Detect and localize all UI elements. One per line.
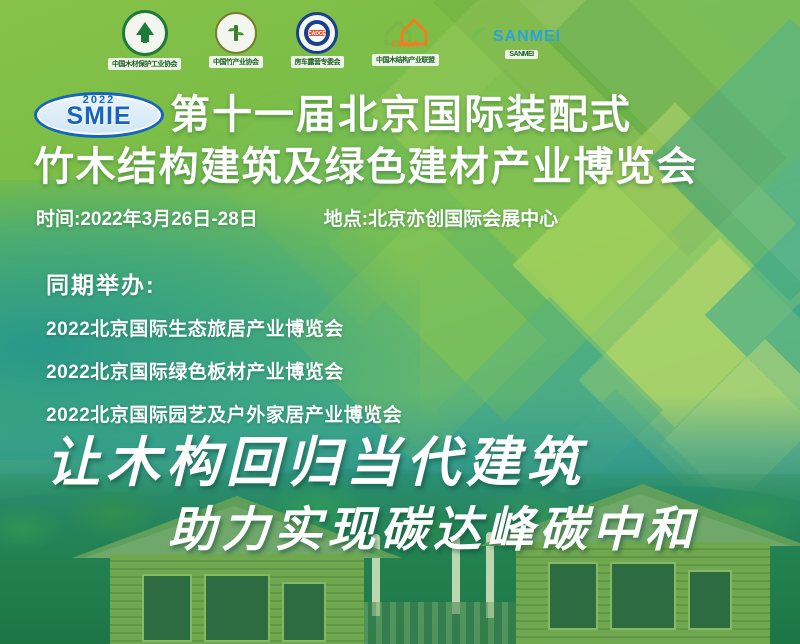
cadce-badge-icon: CADCE — [296, 12, 338, 54]
sponsor-logo: 中国木材保护工业协会 — [108, 10, 181, 70]
sponsor-logo: CWSA 中国木结构产业联盟 — [372, 14, 439, 66]
exhibition-poster: 中国木材保护工业协会 中国竹产业协会 — [0, 0, 800, 644]
house-cwsa-icon: CWSA — [380, 14, 430, 52]
svg-text:CADCE: CADCE — [308, 31, 326, 37]
event-date: 时间:2022年3月26日-28日 — [36, 204, 258, 231]
sponsor-logo-strip: 中国木材保护工业协会 中国竹产业协会 — [0, 10, 800, 70]
smie-logo-text: SMIE — [34, 104, 164, 129]
sponsor-logo: CADCE 房车露营专委会 — [291, 12, 345, 68]
concurrent-event-item: 2022北京国际绿色板材产业博览会 — [46, 357, 402, 384]
bamboo-emblem-icon — [215, 12, 257, 54]
concurrent-events-block: 同期举办: 2022北京国际生态旅居产业博览会 2022北京国际绿色板材产业博览… — [46, 266, 402, 443]
sponsor-caption: SANMEI — [505, 50, 537, 59]
concurrent-event-item: 2022北京国际生态旅居产业博览会 — [46, 314, 402, 341]
poster-content: 中国木材保护工业协会 中国竹产业协会 — [0, 0, 800, 644]
pine-tree-emblem-icon — [122, 10, 168, 56]
slogan-line-1: 让木构回归当代建筑 — [46, 418, 586, 497]
page-title-line-2: 竹木结构建筑及绿色建材产业博览会 — [34, 142, 774, 192]
concurrent-events-heading: 同期举办: — [46, 266, 402, 300]
svg-text:CWSA: CWSA — [392, 39, 420, 48]
slogan-line-2: 助力实现碳达峰碳中和 — [168, 490, 698, 560]
sponsor-logo: SANMEI SANMEI — [467, 22, 577, 59]
sponsor-logo: 中国竹产业协会 — [209, 12, 263, 68]
sanmei-wordmark-icon: SANMEI — [467, 22, 577, 48]
sponsor-caption: 中国木材保护工业协会 — [108, 58, 181, 70]
smie-logo: 2022 SMIE — [34, 92, 164, 138]
svg-text:SANMEI: SANMEI — [492, 28, 560, 45]
sponsor-caption: 中国竹产业协会 — [209, 56, 263, 68]
sponsor-caption: 房车露营专委会 — [291, 56, 345, 68]
title-block: 2022 SMIE 第十一届北京国际装配式 竹木结构建筑及绿色建材产业博览会 — [34, 92, 774, 192]
event-meta: 时间:2022年3月26日-28日 地点:北京亦创国际会展中心 — [36, 204, 558, 231]
event-venue: 地点:北京亦创国际会展中心 — [324, 204, 558, 231]
sponsor-caption: 中国木结构产业联盟 — [372, 54, 439, 66]
page-title-line-1: 第十一届北京国际装配式 — [170, 92, 632, 138]
title-row-primary: 2022 SMIE 第十一届北京国际装配式 — [34, 92, 774, 138]
